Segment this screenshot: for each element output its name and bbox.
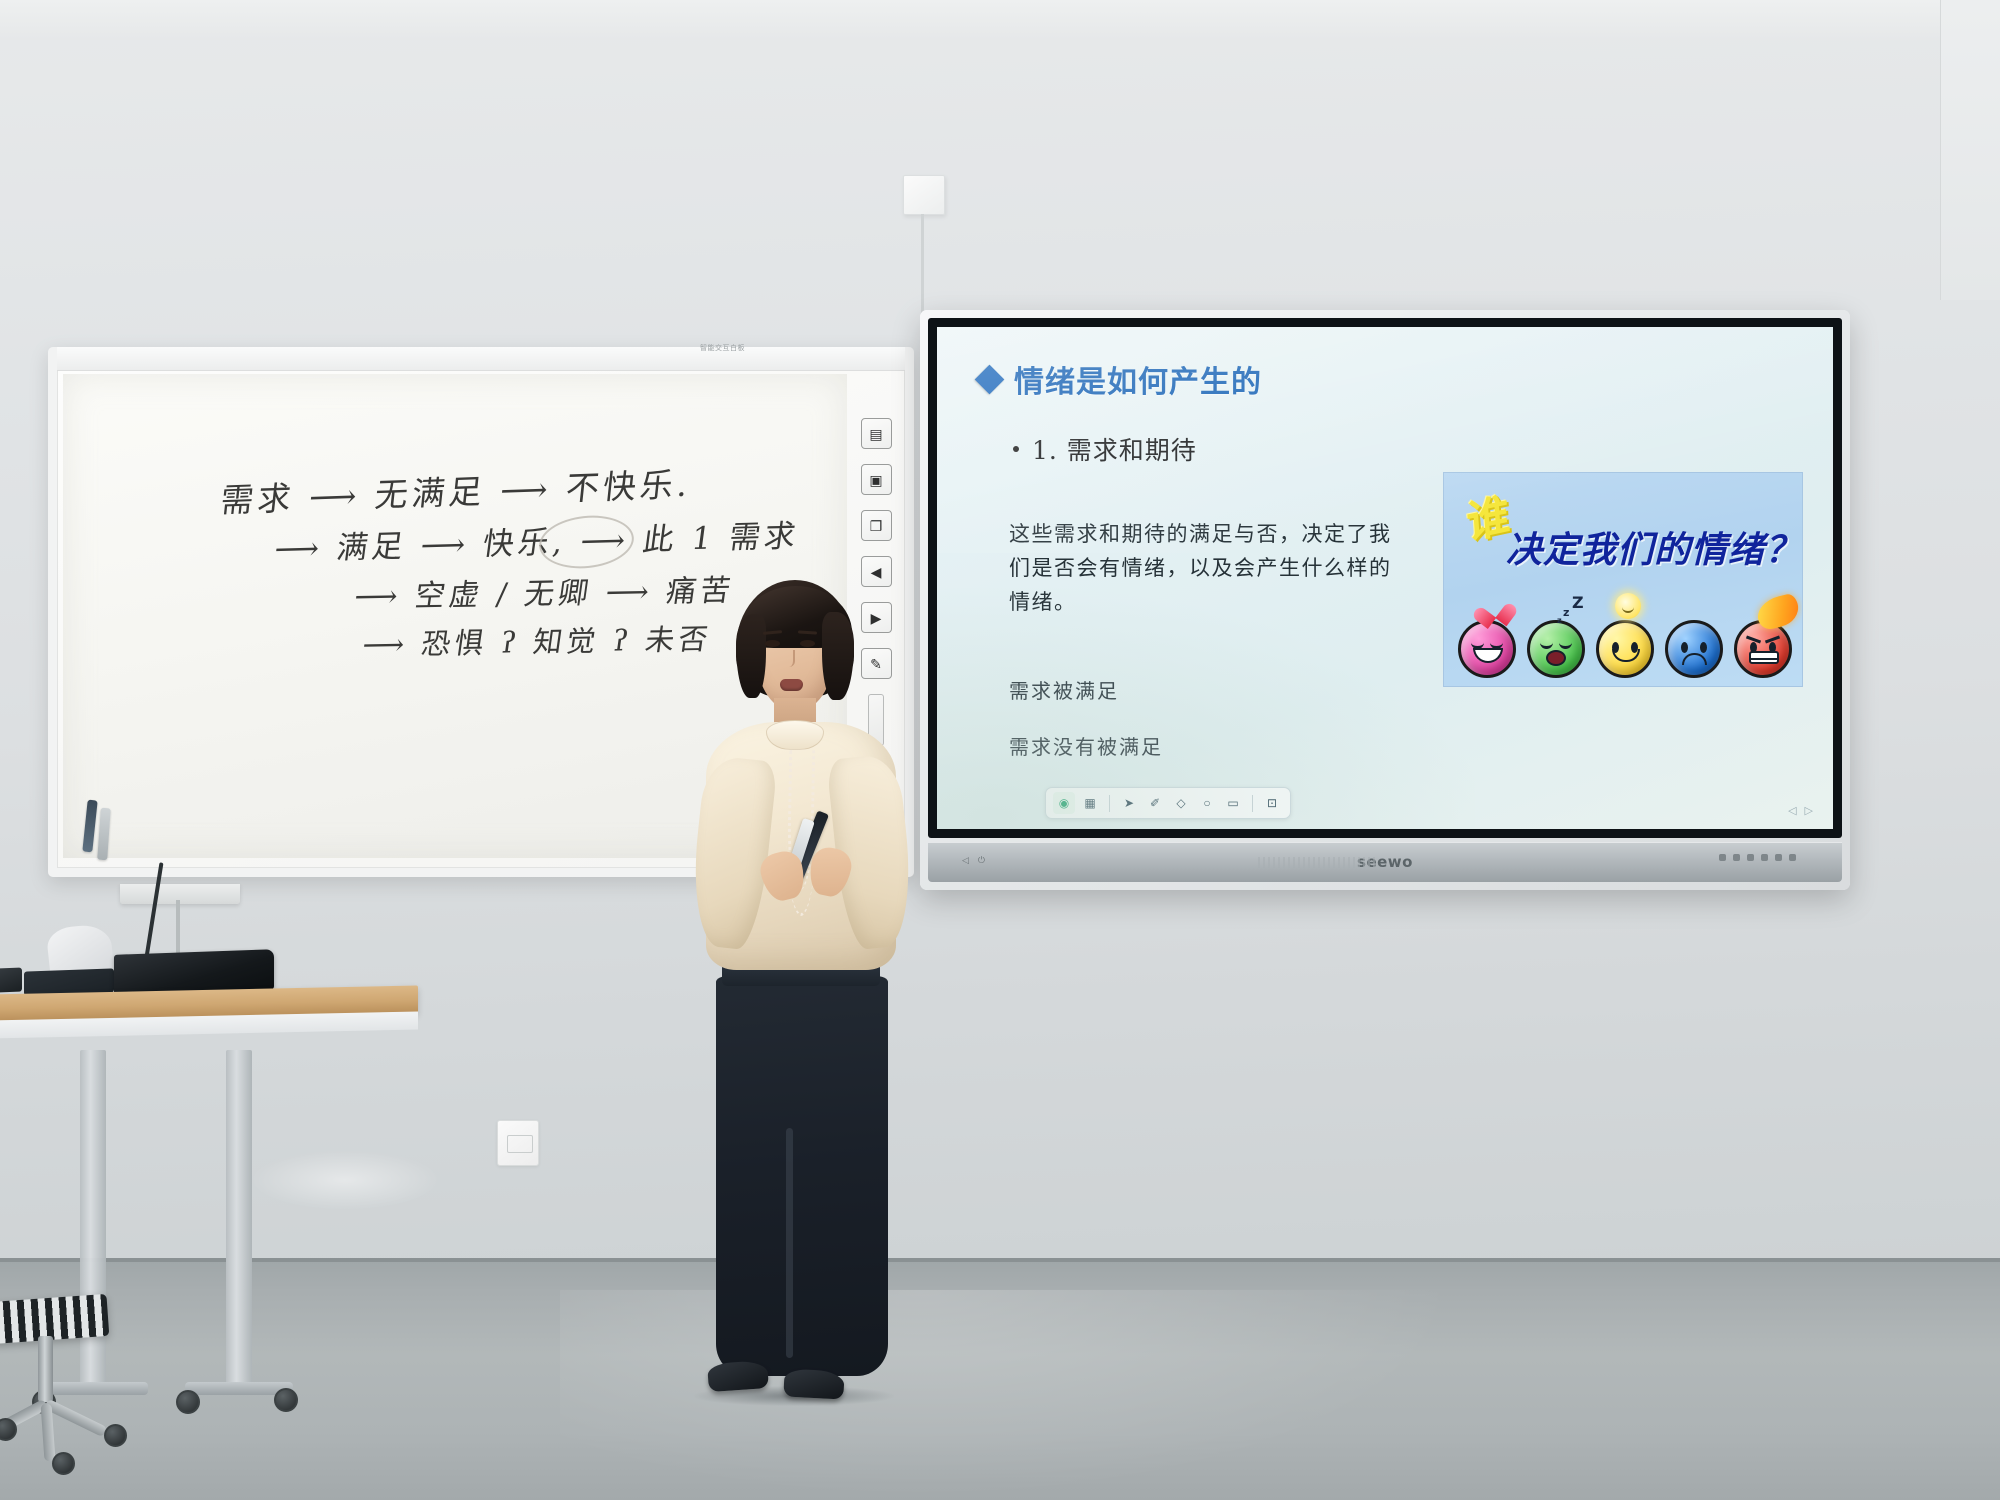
flame-icon <box>1754 592 1802 631</box>
magnifier-icon[interactable]: ○ <box>1196 792 1218 814</box>
toolbar-group-left: ◉ ▦ <box>1053 792 1101 814</box>
eye-icon <box>1681 642 1688 653</box>
hair-side <box>736 614 766 698</box>
office-chair-wheel <box>52 1452 75 1475</box>
screen-icon[interactable]: ▭ <box>1222 792 1244 814</box>
seewo-interactive-panel[interactable]: 情绪是如何产生的 1. 需求和期待 这些需求和期待的满足与否，决定了我们是否会有… <box>920 310 1850 890</box>
display-back-icon[interactable]: ◁ <box>962 855 969 866</box>
slide-body-text: 这些需求和期待的满足与否，决定了我们是否会有情绪，以及会产生什么样的情绪。 <box>1009 517 1401 619</box>
poster-word-who: 谁 <box>1464 478 1512 552</box>
face-sad-icon <box>1665 620 1723 678</box>
scan-icon[interactable]: ▤ <box>861 418 892 449</box>
home-icon[interactable]: ◉ <box>1053 792 1075 814</box>
next-slide-icon[interactable]: ▷ <box>1805 804 1813 817</box>
save-icon[interactable]: ▣ <box>861 464 892 495</box>
display-port-indicators <box>1719 854 1796 861</box>
slide-bullet-item: 1. 需求和期待 <box>1013 431 1807 467</box>
small-monitor <box>0 968 22 993</box>
podium-computer[interactable] <box>114 949 274 995</box>
eye-icon <box>1700 642 1707 653</box>
bullet-dot-icon <box>1013 446 1019 452</box>
slide-pager[interactable]: ◁ ▷ <box>1788 804 1813 817</box>
office-chair-wheel <box>104 1424 127 1447</box>
whiteboard-brand-label: 智能交互白板 <box>700 343 745 353</box>
wall-power-outlet[interactable] <box>497 1120 539 1166</box>
whiteboard-handwriting-line: ⟶ 空虚 / 无卿 ⟶ 痛苦 <box>352 565 738 616</box>
diamond-bullet-icon <box>975 364 1005 394</box>
eye-icon <box>1540 642 1553 649</box>
pages-icon[interactable]: ❐ <box>861 510 892 541</box>
power-icon[interactable]: ⏻ <box>978 855 985 866</box>
eye <box>800 640 815 647</box>
slide-bullet-label: 1. 需求和期待 <box>1032 431 1197 467</box>
display-speaker-grille <box>1258 857 1378 868</box>
heart-icon <box>1479 595 1508 622</box>
trousers <box>716 976 888 1376</box>
toolbar-group-tools: ➤ ✐ ◇ ○ ▭ <box>1118 792 1244 814</box>
display-chin-controls[interactable]: ◁ ⏻ <box>962 855 985 866</box>
presenter <box>688 580 918 1380</box>
whiteboard-top-rail: 智能交互白板 <box>57 347 905 371</box>
whiteboard-handwriting-line: 需求 ⟶ 无满足 ⟶ 不快乐. <box>218 457 694 522</box>
seewo-floating-toolbar[interactable]: ◉ ▦ ➤ ✐ ◇ ○ ▭ ⊡ <box>1045 787 1291 819</box>
mouth-icon <box>1546 650 1566 666</box>
eye-icon <box>1559 642 1572 649</box>
office-chair-post <box>38 1336 53 1402</box>
desk-leg <box>226 1050 252 1388</box>
slide-footer-line: 需求没有被满足 <box>1009 731 1807 760</box>
slide-title-row: 情绪是如何产生的 <box>979 357 1807 401</box>
collar <box>766 720 824 750</box>
mouth-icon <box>1749 651 1779 664</box>
toolbar-divider <box>1109 795 1110 812</box>
face-happy-icon <box>1596 620 1654 678</box>
qrcode-icon[interactable]: ▦ <box>1079 792 1101 814</box>
office-chair-seat[interactable] <box>0 1294 109 1344</box>
slide-poster-image: 谁 决定我们的情绪？ Zzz <box>1443 472 1803 687</box>
display-screen[interactable]: 情绪是如何产生的 1. 需求和期待 这些需求和期待的满足与否，决定了我们是否会有… <box>937 327 1833 829</box>
mouth-icon <box>1612 649 1640 662</box>
face-sleepy-icon: Zzz <box>1527 620 1585 678</box>
poster-emoji-row: Zzz <box>1458 596 1792 678</box>
sun-icon <box>1615 593 1641 619</box>
wall-right-panel <box>1940 0 2000 300</box>
desk-caster <box>274 1388 298 1412</box>
trouser-seam <box>786 1128 793 1358</box>
hair-side <box>822 612 854 700</box>
teacher-desk[interactable] <box>0 990 418 1460</box>
face-love-icon <box>1458 620 1516 678</box>
cursor-icon[interactable]: ➤ <box>1118 792 1140 814</box>
face-angry-icon <box>1734 620 1792 678</box>
slide-title: 情绪是如何产生的 <box>1014 357 1262 401</box>
previous-slide-icon[interactable]: ◁ <box>1788 804 1796 817</box>
classroom-scene: 智能交互白板 需求 ⟶ 无满足 ⟶ 不快乐. ⟶ 满足 ⟶ 快乐, ⟶ 此 1 … <box>0 0 2000 1500</box>
wall-junction-box <box>903 175 945 215</box>
cast-icon[interactable]: ⊡ <box>1261 792 1283 814</box>
display-chin: ◁ ⏻ seewo <box>928 842 1842 882</box>
mouth-icon <box>1473 648 1503 663</box>
whiteboard-handwriting-line: ⟶ 恐惧 ʔ 知觉 ʔ 未否 <box>360 616 715 664</box>
eye <box>765 640 780 647</box>
poster-question: 决定我们的情绪？ <box>1506 521 1802 573</box>
display-bezel: 情绪是如何产生的 1. 需求和期待 这些需求和期待的满足与否，决定了我们是否会有… <box>928 318 1842 838</box>
desk-caster <box>176 1390 200 1414</box>
nose <box>784 650 795 667</box>
presentation-slide[interactable]: 情绪是如何产生的 1. 需求和期待 这些需求和期待的满足与否，决定了我们是否会有… <box>937 327 1833 829</box>
pen-icon[interactable]: ✐ <box>1144 792 1166 814</box>
slide-footer-block: 需求被满足 需求没有被满足 <box>1009 675 1807 760</box>
whiteboard-handwriting-line: ⟶ 满足 ⟶ 快乐, ⟶ 此 1 需求 <box>272 510 803 569</box>
toolbar-divider <box>1252 795 1253 812</box>
shoe <box>707 1360 769 1392</box>
eraser-icon[interactable]: ◇ <box>1170 792 1192 814</box>
desk-foot <box>40 1382 148 1395</box>
mouth <box>780 679 803 691</box>
ceiling-edge <box>0 0 2000 40</box>
mouth-icon <box>1682 653 1707 665</box>
